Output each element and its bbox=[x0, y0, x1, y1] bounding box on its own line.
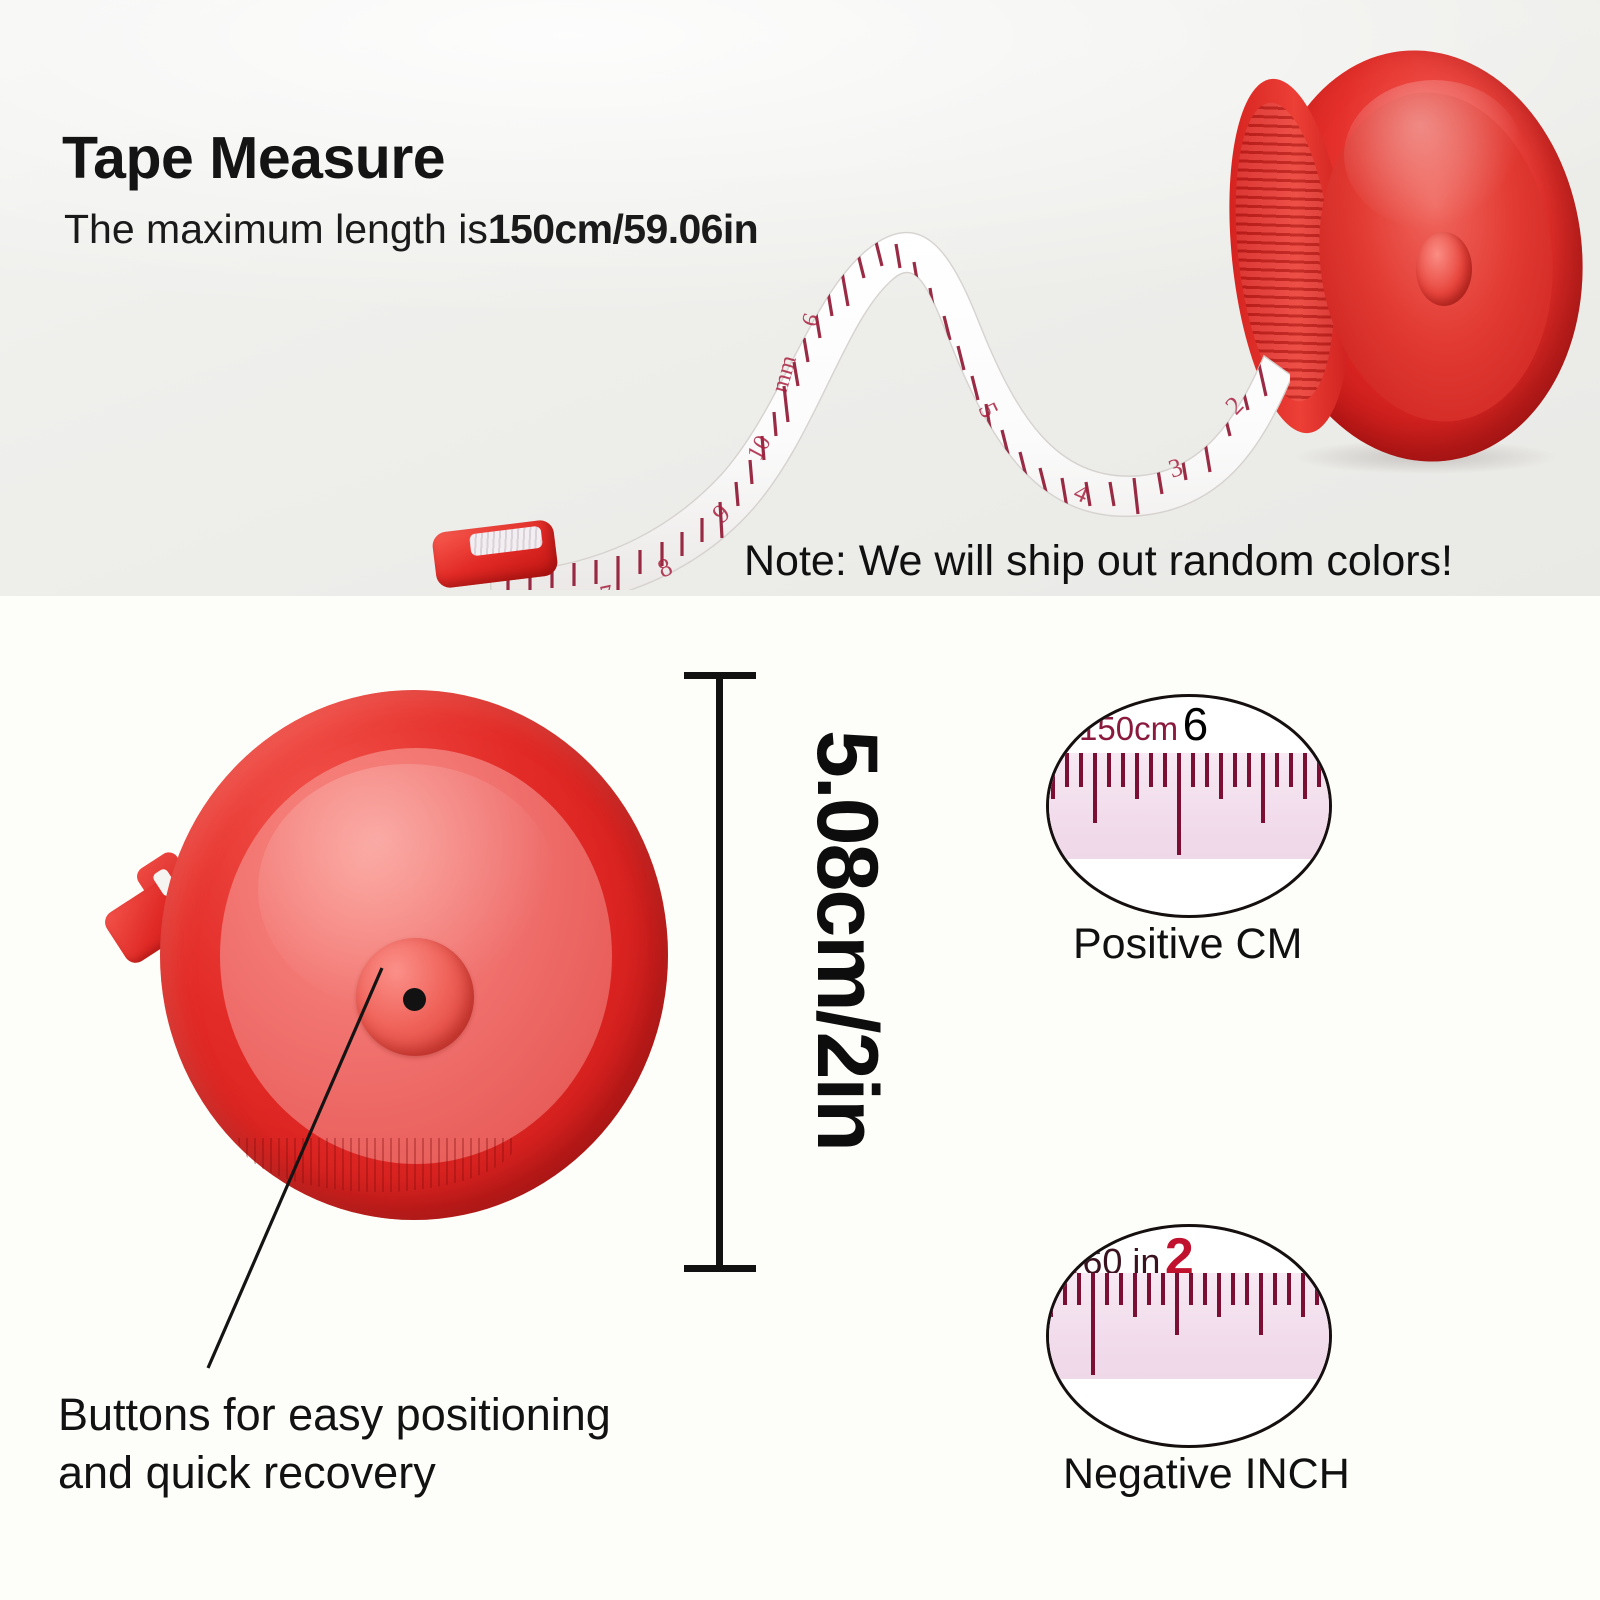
callout-leader-line bbox=[190, 960, 390, 1380]
dimension-cap-bottom bbox=[684, 1265, 756, 1272]
max-length-value: 150cm/59.06in bbox=[488, 206, 758, 252]
magnifier-positive-cm: 5 150cm 6 bbox=[1046, 694, 1332, 918]
tape-end-tab bbox=[434, 512, 562, 588]
feature-callout-line-1: Buttons for easy positioning bbox=[58, 1386, 698, 1444]
product-infographic: 7 8 9 10 mm 6 5 4 3 2 Tape Measure The m… bbox=[0, 0, 1600, 1600]
page-title: Tape Measure bbox=[62, 124, 445, 192]
ruler-ticks-cm bbox=[1046, 753, 1332, 859]
case-gloss-highlight bbox=[1344, 80, 1524, 230]
feature-callout-text: Buttons for easy positioning and quick r… bbox=[58, 1386, 698, 1501]
top-panel: 7 8 9 10 mm 6 5 4 3 2 Tape Measure The m… bbox=[0, 0, 1600, 596]
dimension-line bbox=[684, 672, 756, 1272]
magnifier-caption-positive-cm: Positive CM bbox=[1073, 920, 1302, 969]
ruler-label-mid-cm: 150cm bbox=[1079, 710, 1178, 747]
magnifier-ellipse: 1 60 in 2 bbox=[1046, 1224, 1332, 1448]
ruler-strip-cm bbox=[1046, 753, 1332, 859]
magnifier-caption-negative-inch: Negative INCH bbox=[1063, 1450, 1350, 1499]
dimension-label: 5.08cm/2in bbox=[797, 730, 896, 1250]
ruler-strip-inch bbox=[1046, 1273, 1332, 1379]
max-length-line: The maximum length is150cm/59.06in bbox=[64, 206, 758, 253]
magnifier-negative-inch: 1 60 in 2 bbox=[1046, 1224, 1332, 1448]
feature-callout-line-2: and quick recovery bbox=[58, 1444, 698, 1502]
magnifier-ellipse: 5 150cm 6 bbox=[1046, 694, 1332, 918]
dimension-stem bbox=[716, 672, 723, 1272]
ruler-ticks-inch bbox=[1046, 1273, 1332, 1379]
case-center-knob bbox=[1416, 232, 1472, 306]
ruler-label-left-cm: 5 bbox=[1049, 698, 1075, 750]
max-length-prefix: The maximum length is bbox=[64, 206, 488, 252]
case-button-dot bbox=[403, 988, 426, 1011]
ruler-label-right-cm: 6 bbox=[1183, 698, 1209, 750]
random-colors-note: Note: We will ship out random colors! bbox=[744, 537, 1453, 586]
